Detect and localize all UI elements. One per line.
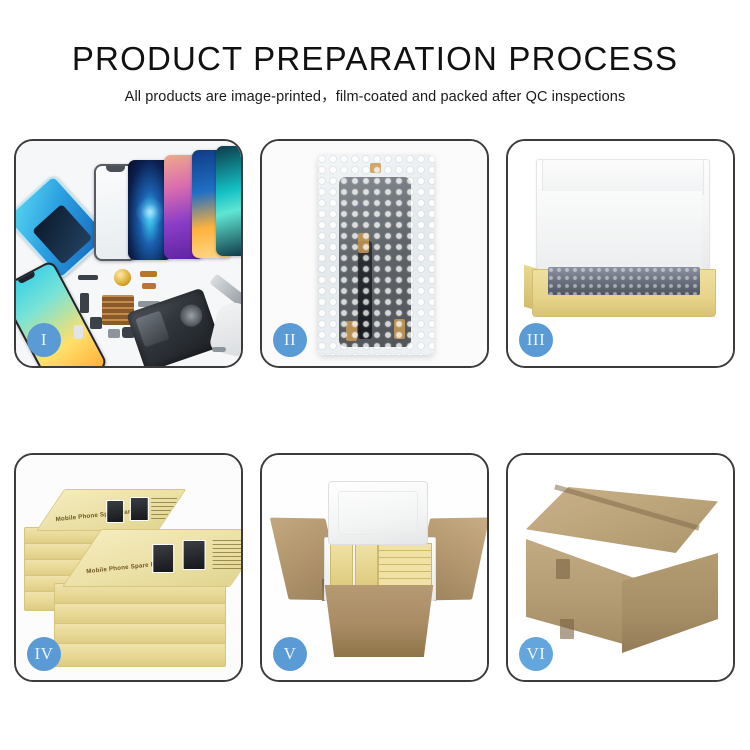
part-flex-cable-2 — [142, 283, 156, 289]
packed-box — [330, 543, 353, 589]
carton-front-face — [526, 539, 634, 647]
page-title: PRODUCT PREPARATION PROCESS — [0, 40, 750, 78]
vibration-motor-part — [114, 269, 131, 286]
process-step-card-2[interactable]: II — [260, 139, 489, 368]
process-step-grid: I II III — [14, 139, 736, 682]
carton-top-face — [526, 487, 718, 553]
stack-box-right-1 — [54, 643, 226, 667]
stack-box-thumbnail-b1 — [152, 544, 174, 573]
part-screws — [212, 347, 226, 352]
carton-tape-lower — [560, 619, 574, 639]
adhesive-tab-bottom-right — [394, 319, 405, 339]
step-badge-5: V — [273, 637, 307, 671]
part-bracket-1 — [108, 329, 120, 338]
stack-box-label-top: Mobile Phone Spare Parts — [55, 508, 136, 523]
stack-box-text-lines-a — [151, 498, 177, 522]
part-speaker — [90, 317, 102, 329]
step-badge-1: I — [27, 323, 61, 357]
page-header: PRODUCT PREPARATION PROCESS All products… — [0, 0, 750, 107]
process-step-card-6[interactable]: VI — [506, 453, 735, 682]
mailer-box-lid-top-flap — [542, 159, 704, 195]
bubble-wrapped-contents — [548, 267, 700, 295]
bubble-wrap-bag — [318, 155, 434, 355]
process-step-card-3[interactable]: III — [506, 139, 735, 368]
packed-boxes-stack-horizontal — [378, 543, 432, 591]
step-badge-6: VI — [519, 637, 553, 671]
carton-body — [320, 585, 438, 657]
stack-box-thumbnail-b2 — [183, 540, 206, 570]
foam-box-lid — [328, 481, 428, 545]
packed-box — [355, 543, 378, 589]
adhesive-tab-bottom-left — [346, 321, 357, 341]
carton-side-face — [622, 553, 718, 653]
stack-box-thumbnail-a2 — [130, 497, 149, 521]
stack-box-right-2 — [54, 623, 226, 645]
process-step-card-4[interactable]: Mobile Phone Spare Parts Mobile Phone Sp… — [14, 453, 243, 682]
stack-box-text-lines-b — [213, 540, 241, 570]
page-subtitle: All products are image-printed，film-coat… — [0, 87, 750, 107]
process-step-card-5[interactable]: V — [260, 453, 489, 682]
step-badge-4: IV — [27, 637, 61, 671]
wrapped-flex-cable — [358, 241, 372, 339]
step-badge-3: III — [519, 323, 553, 357]
part-sim-tray — [74, 325, 83, 339]
box-stack: Mobile Phone Spare Parts Mobile Phone Sp… — [22, 475, 234, 665]
adhesive-tab-mid — [358, 233, 369, 253]
stack-box-thumbnail-a1 — [106, 500, 124, 523]
part-camera-module — [80, 293, 89, 313]
stack-box-right-3 — [54, 603, 226, 625]
adhesive-tab-top — [370, 163, 381, 173]
part-flex-cable-1 — [140, 271, 157, 277]
part-connector-1 — [78, 275, 98, 280]
process-step-card-1[interactable]: I — [14, 139, 243, 368]
stack-box-lid-top-left: Mobile Phone Spare Parts — [36, 489, 186, 531]
mailer-box-foam-sheet — [542, 191, 702, 269]
step-badge-2: II — [273, 323, 307, 357]
shipping-carton — [526, 487, 718, 647]
phone-screen-teal — [216, 146, 241, 256]
carton-tape-upper — [556, 559, 570, 579]
